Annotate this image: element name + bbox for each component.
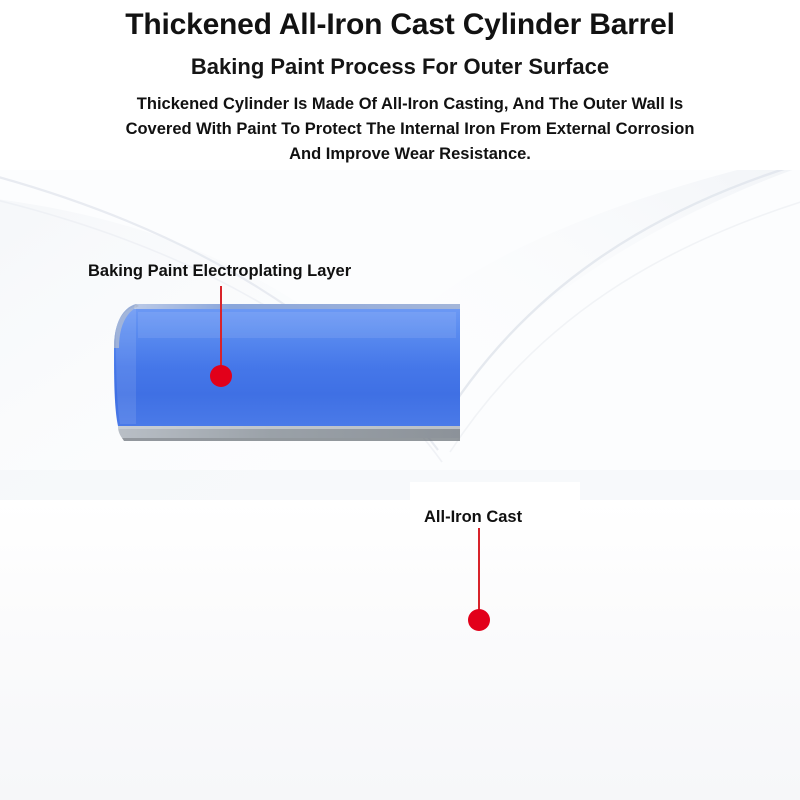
callout-label-all-iron-cast: All-Iron Cast bbox=[424, 508, 522, 527]
page-description: Thickened Cylinder Is Made Of All-Iron C… bbox=[110, 92, 710, 167]
product-infographic: Thickened All-Iron Cast Cylinder Barrel … bbox=[0, 0, 800, 800]
product-photo bbox=[0, 500, 800, 800]
leader-line-baking-paint bbox=[220, 286, 222, 372]
page-title: Thickened All-Iron Cast Cylinder Barrel bbox=[0, 8, 800, 42]
marker-dot-baking-paint bbox=[210, 365, 232, 387]
paint-sample-svg bbox=[108, 296, 464, 446]
callout-label-baking-paint: Baking Paint Electroplating Layer bbox=[88, 262, 351, 281]
paint-sample-plate bbox=[108, 296, 464, 446]
leader-line-all-iron-cast bbox=[478, 528, 480, 616]
header-block: Thickened All-Iron Cast Cylinder Barrel … bbox=[0, 0, 800, 170]
product-backdrop bbox=[0, 500, 800, 800]
marker-dot-all-iron-cast bbox=[468, 609, 490, 631]
page-subtitle: Baking Paint Process For Outer Surface bbox=[0, 54, 800, 80]
